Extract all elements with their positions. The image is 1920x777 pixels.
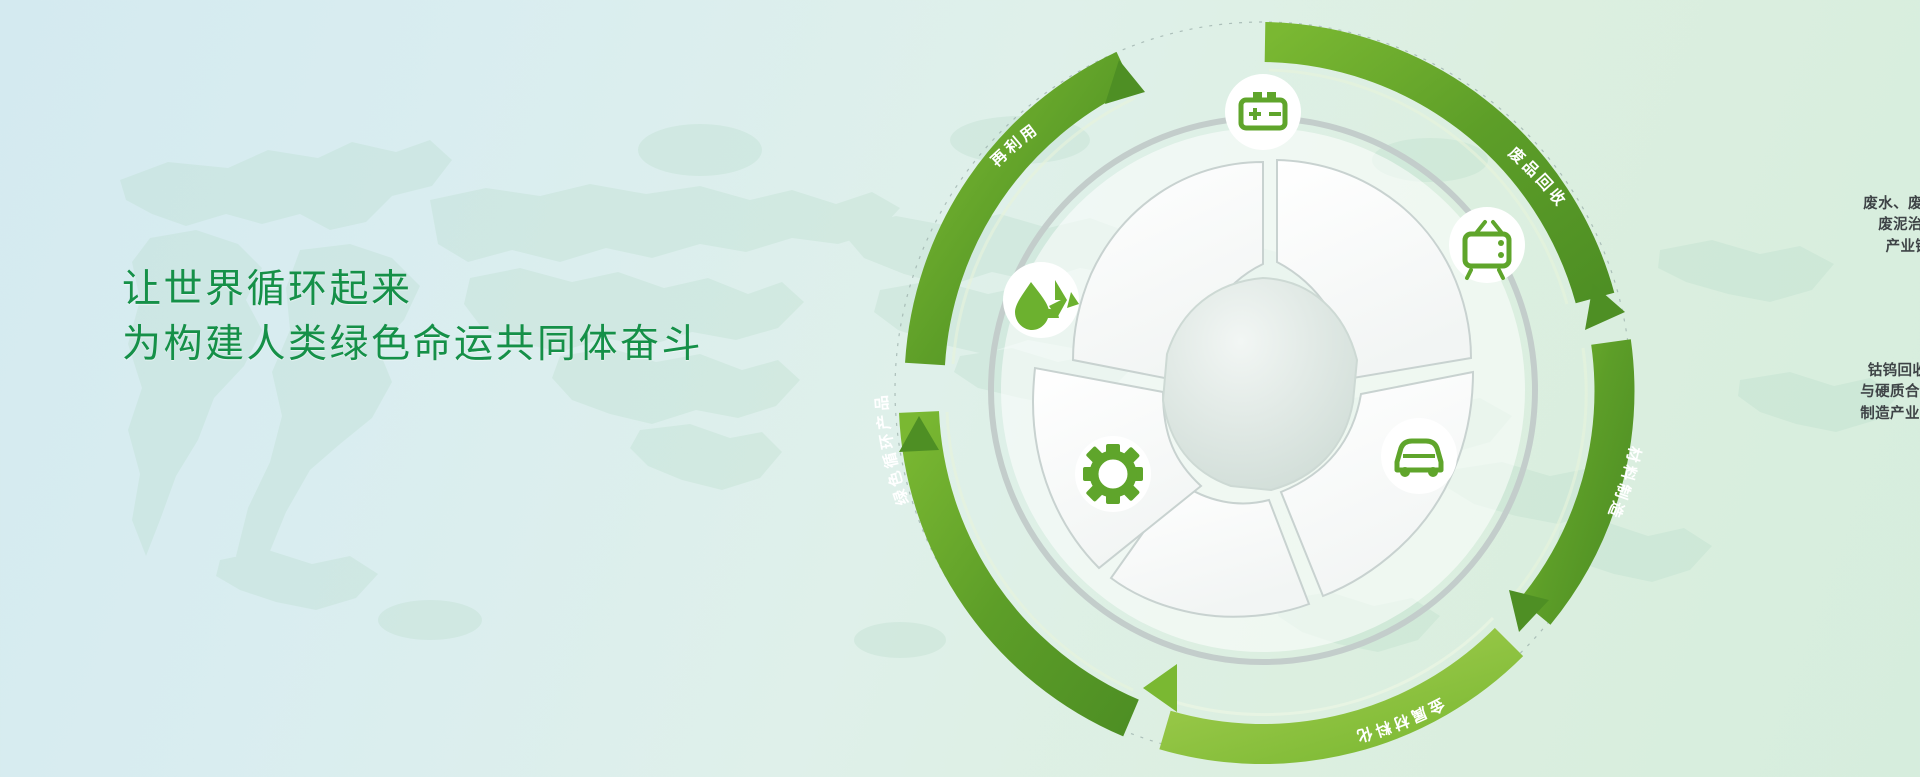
recycle-water-icon[interactable] <box>1003 262 1079 338</box>
five-industry-chain-diagram: 废品回收 材料制造 金属材料化 绿色循环产品 再利用 <box>833 12 1693 767</box>
battery-icon[interactable] <box>1225 74 1301 150</box>
tv-icon[interactable] <box>1449 207 1525 283</box>
diagram-svg: 废品回收 材料制造 金属材料化 绿色循环产品 再利用 <box>833 12 1693 767</box>
gear-icon[interactable] <box>1075 436 1151 512</box>
petal-label-wastewater: 废水、废渣、 废泥治理 产业链 <box>1833 194 1920 258</box>
car-icon[interactable] <box>1381 418 1457 494</box>
headline-line-2: 为构建人类绿色命运共同体奋斗 <box>122 317 703 372</box>
headline-line-1: 让世界循环起来 <box>122 262 703 317</box>
hero-headline: 让世界循环起来 为构建人类绿色命运共同体奋斗 <box>122 262 703 373</box>
petal-label-cobalt: 钴钨回收 与硬质合金 制造产业链 <box>1825 361 1920 425</box>
